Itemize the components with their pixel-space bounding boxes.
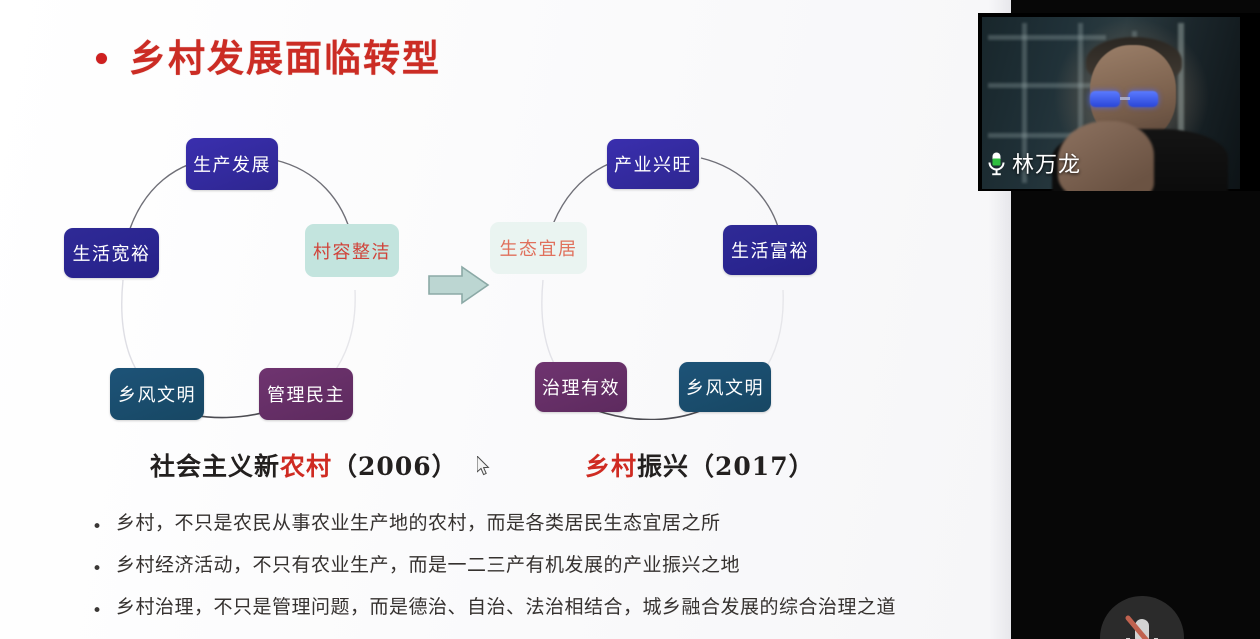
right-block-arrow-icon [428, 265, 490, 305]
node-label: 产业兴旺 [614, 151, 692, 177]
node-label: 生产发展 [193, 151, 271, 177]
node-label: 村容整洁 [313, 238, 391, 264]
list-item: • 乡村经济活动，不只有农业生产，而是一二三产有机发展的产业振兴之地 [92, 554, 992, 578]
microphone-muted-icon [1115, 611, 1169, 639]
bullet-marker: • [92, 561, 102, 578]
right-diagram-caption: 乡村振兴（2017） [585, 447, 815, 483]
node-label: 管理民主 [267, 381, 345, 407]
node-shenghuo-kuanyu[interactable]: 生活宽裕 [64, 228, 159, 278]
glasses-bridge [1120, 97, 1130, 100]
node-xiangfeng-wenming-left[interactable]: 乡风文明 [110, 368, 204, 420]
title-bullet-icon [96, 53, 107, 64]
node-label: 生活富裕 [731, 237, 809, 263]
bullet-list: • 乡村，不只是农民从事农业生产地的农村，而是各类居民生态宜居之所 • 乡村经济… [92, 512, 992, 638]
caption-suffix: （2006） [332, 452, 458, 481]
bullet-text: 乡村经济活动，不只有农业生产，而是一二三产有机发展的产业振兴之地 [116, 554, 740, 578]
participant-name-row: 林万龙 [986, 147, 1081, 179]
bullet-text: 乡村，不只是农民从事农业生产地的农村，而是各类居民生态宜居之所 [116, 512, 721, 536]
list-item: • 乡村治理，不只是管理问题，而是德治、自治、法治相结合，城乡融合发展的综合治理… [92, 596, 992, 620]
shared-slide: 乡村发展面临转型 生活宽裕 生产发展 村容整洁 乡风文明 [0, 0, 1011, 639]
page-title: 乡村发展面临转型 [129, 28, 441, 82]
node-guanli-minzhu[interactable]: 管理民主 [259, 368, 353, 420]
caption-highlight: 乡村 [585, 452, 637, 481]
node-shengchan-fazhan[interactable]: 生产发展 [186, 138, 278, 190]
glasses-left-lens [1090, 91, 1120, 107]
node-label: 治理有效 [542, 374, 620, 400]
transition-arrow [428, 265, 490, 305]
node-zhili-youxiao[interactable]: 治理有效 [535, 362, 627, 412]
participant-video-tile[interactable]: 林万龙 [978, 13, 1260, 191]
node-shenghuo-fuyu[interactable]: 生活富裕 [723, 225, 817, 275]
left-diagram-caption: 社会主义新农村（2006） [150, 447, 458, 483]
node-label: 乡风文明 [118, 381, 196, 407]
participant-name: 林万龙 [1012, 147, 1081, 179]
node-xiangfeng-wenming-right[interactable]: 乡风文明 [679, 362, 771, 412]
meeting-screen: 乡村发展面临转型 生活宽裕 生产发展 村容整洁 乡风文明 [0, 0, 1260, 639]
node-shengtai-yiju[interactable]: 生态宜居 [490, 222, 587, 274]
node-label: 乡风文明 [686, 374, 764, 400]
bullet-text: 乡村治理，不只是管理问题，而是德治、自治、法治相结合，城乡融合发展的综合治理之道 [116, 596, 896, 620]
caption-prefix: 社会主义新 [150, 452, 280, 481]
caption-highlight: 农村 [280, 452, 332, 481]
mouse-cursor [477, 456, 491, 476]
node-label: 生活宽裕 [73, 240, 151, 266]
glasses-right-lens [1128, 91, 1158, 107]
bullet-marker: • [92, 519, 102, 536]
caption-rest: 振兴（2017） [637, 452, 815, 481]
microphone-icon [986, 151, 1007, 176]
node-chanye-xingwang[interactable]: 产业兴旺 [607, 139, 699, 189]
node-label: 生态宜居 [500, 235, 578, 261]
bullet-marker: • [92, 603, 102, 620]
node-cunrong-zhengjie[interactable]: 村容整洁 [305, 224, 399, 277]
list-item: • 乡村，不只是农民从事农业生产地的农村，而是各类居民生态宜居之所 [92, 512, 992, 536]
slide-title-row: 乡村发展面临转型 [96, 28, 441, 82]
